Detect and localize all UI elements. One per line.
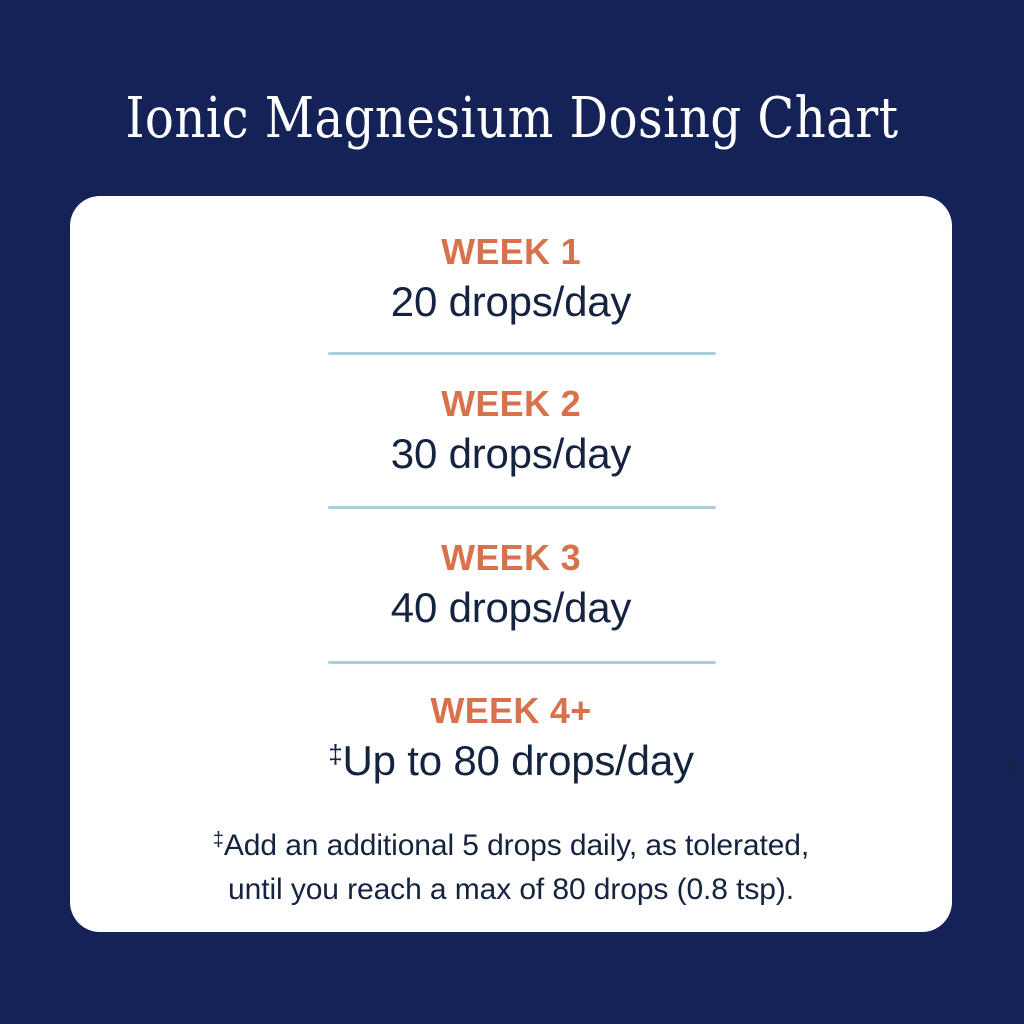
row-divider: [328, 661, 716, 664]
dose-row-week-4-plus: WEEK 4+ ‡Up to 80 drops/day: [70, 688, 952, 788]
week-label: WEEK 4+: [70, 688, 952, 734]
week-label: WEEK 1: [70, 229, 952, 275]
week-label: WEEK 3: [70, 535, 952, 581]
dose-row-week-1: WEEK 1 20 drops/day: [70, 229, 952, 329]
dose-text: Up to 80 drops/day: [342, 737, 693, 784]
dosing-chart-graphic: Ionic Magnesium Dosing Chart WEEK 1 20 d…: [0, 0, 1024, 1024]
dose-amount: ‡Up to 80 drops/day: [70, 734, 952, 788]
dose-amount: 40 drops/day: [70, 581, 952, 635]
section-mark-symbol: §: [1002, 756, 1022, 780]
dose-amount: 20 drops/day: [70, 275, 952, 329]
dosing-card-content: WEEK 1 20 drops/day WEEK 2 30 drops/day …: [70, 196, 952, 932]
dose-text: 30 drops/day: [391, 430, 631, 477]
row-divider: [328, 506, 716, 509]
page-title: Ionic Magnesium Dosing Chart: [72, 84, 953, 154]
footnote-text-1: Add an additional 5 drops daily, as tole…: [224, 829, 809, 862]
dagger-marker: ‡: [213, 829, 224, 851]
footnote: ‡Add an additional 5 drops daily, as tol…: [111, 824, 911, 912]
footnote-line-1: ‡Add an additional 5 drops daily, as tol…: [111, 824, 911, 868]
dose-amount: 30 drops/day: [70, 427, 952, 481]
dose-text: 20 drops/day: [391, 278, 631, 325]
dagger-marker: ‡: [328, 739, 342, 769]
dosing-card: WEEK 1 20 drops/day WEEK 2 30 drops/day …: [70, 196, 952, 932]
dose-text: 40 drops/day: [391, 584, 631, 631]
footnote-line-2: until you reach a max of 80 drops (0.8 t…: [111, 868, 911, 912]
row-divider: [328, 352, 716, 355]
dose-row-week-3: WEEK 3 40 drops/day: [70, 535, 952, 635]
dose-row-week-2: WEEK 2 30 drops/day: [70, 381, 952, 481]
week-label: WEEK 2: [70, 381, 952, 427]
